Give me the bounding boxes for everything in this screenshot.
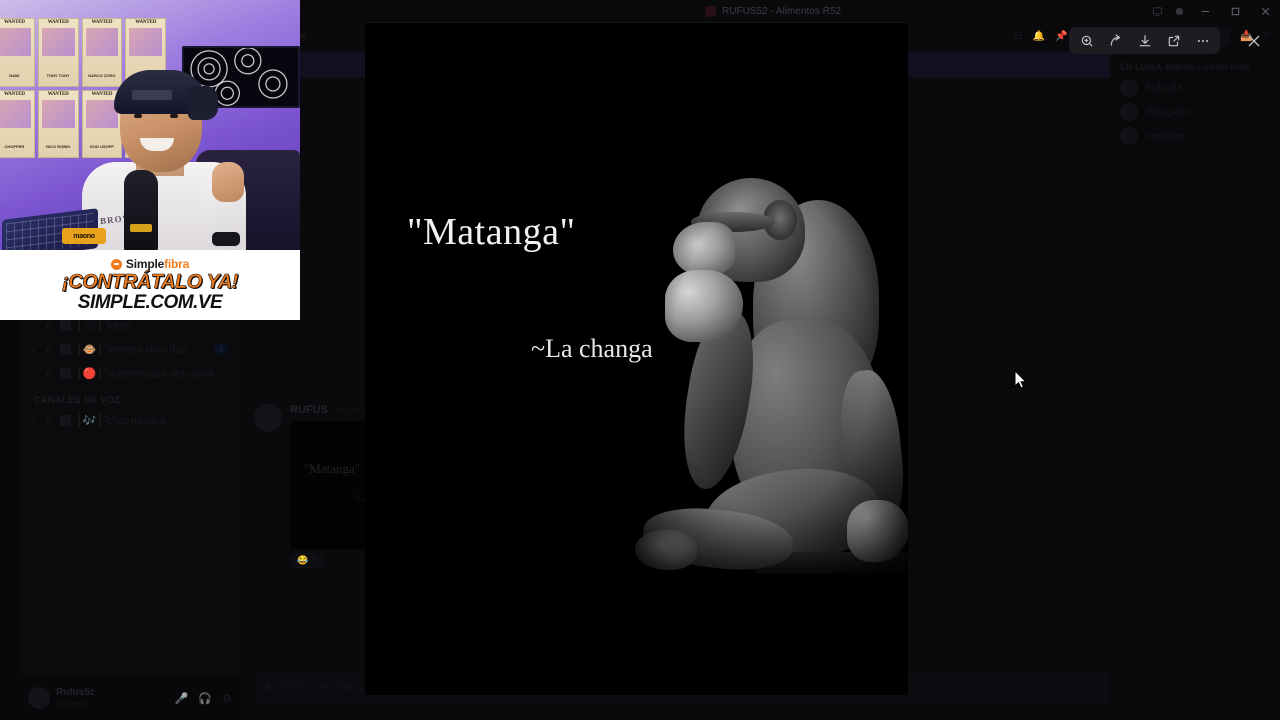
microphone [124,170,158,250]
poster-name: NICO ROBIN [39,144,78,149]
media-viewer-image[interactable]: "Matanga" ~La changa [365,20,908,695]
poster-title: WANTED [83,20,122,25]
sponsor-brand-right: fibra [164,257,189,271]
streamer-hand [212,162,244,202]
sponsor-url: SIMPLE.COM.VE [78,293,222,313]
zoom-icon[interactable] [1073,29,1100,52]
microphone-ring [130,224,152,232]
chimpanzee-illustration [635,170,908,585]
window-title-text: RUFUS52 - Alimentos R52 [722,6,841,17]
poster-name: TONY TONY [39,73,78,78]
screen-root: ALIMENTOS R52 REDES SOCIALES ▸ # ┃📷┃˝ins… [0,0,1280,720]
screen-share-icon[interactable] [1146,0,1168,22]
notification-icon[interactable] [1168,0,1190,22]
app-logo-icon [705,6,716,17]
wanted-poster: WANTED NICO ROBIN [38,90,79,159]
maximize-button[interactable] [1220,0,1250,22]
wanted-poster: WANTED CHOPPER [0,90,35,159]
poster-name: NAMI [0,73,34,78]
streamer-watch [212,232,240,246]
share-icon[interactable] [1102,29,1129,52]
minimize-button[interactable] [1190,0,1220,22]
open-external-icon[interactable] [1160,29,1187,52]
streamer-eye [170,114,178,118]
window-controls [1146,0,1280,22]
streamer-eye [134,114,142,118]
window-title: RUFUS52 - Alimentos R52 [400,6,1146,17]
more-options-icon[interactable] [1189,29,1216,52]
webcam-feed: WANTED NAMI WANTED TONY TONY WANTED NARC… [0,0,300,250]
download-icon[interactable] [1131,29,1158,52]
image-quote-main: "Matanga" [407,210,575,254]
cap-flap [188,86,218,120]
close-icon[interactable] [1240,27,1268,54]
microphone-brand-label: maono [62,228,106,244]
sponsor-headline: ¡CONTRÁTALO YA! [62,272,238,293]
sponsor-logo-icon [111,259,122,270]
wanted-poster: WANTED NAMI [0,18,35,87]
cap-strap [132,90,172,100]
poster-title: WANTED [0,20,34,25]
poster-title: WANTED [39,92,78,97]
sponsor-brand-left: Simple [126,257,164,271]
media-viewer-toolbar [1069,27,1220,54]
poster-title: WANTED [39,20,78,25]
sponsor-banner: Simplefibra ¡CONTRÁTALO YA! SIMPLE.COM.V… [0,250,300,320]
sponsor-brand: Simplefibra [111,257,189,271]
wanted-poster: WANTED TONY TONY [38,18,79,87]
sponsor-brand-name: Simplefibra [126,257,189,271]
close-button[interactable] [1250,0,1280,22]
mouse-cursor [1014,370,1028,395]
image-quote-attribution: ~La changa [531,334,653,364]
poster-name: CHOPPER [0,144,34,149]
poster-title: WANTED [0,92,34,97]
poster-title: WANTED [126,20,165,25]
streamer-figure: BROWN [78,56,248,250]
stream-overlay: WANTED NAMI WANTED TONY TONY WANTED NARC… [0,0,300,320]
